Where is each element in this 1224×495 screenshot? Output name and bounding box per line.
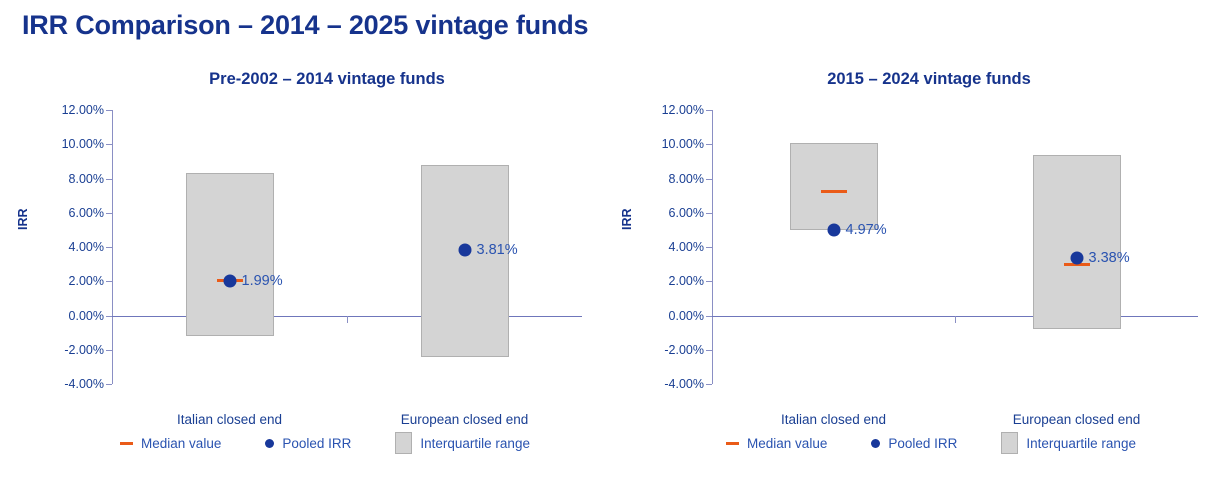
- y-tick-label-left: 8.00%: [69, 172, 104, 186]
- legend-right: Median valuePooled IRRInterquartile rang…: [616, 432, 1220, 454]
- dot-icon: [265, 439, 274, 448]
- y-tick-mark-left: [106, 350, 112, 351]
- y-tick-mark-left: [106, 281, 112, 282]
- y-axis-line-left: [112, 110, 113, 384]
- y-tick-label-left: 6.00%: [69, 206, 104, 220]
- pooled-irr-label-left: 1.99%: [242, 273, 283, 289]
- dash-icon: [726, 442, 739, 445]
- pooled-irr-dot-right: [1070, 251, 1083, 264]
- y-tick-label-right: 2.00%: [669, 274, 704, 288]
- y-tick-mark-right: [706, 281, 712, 282]
- legend-label: Pooled IRR: [888, 436, 957, 451]
- pooled-irr-label-left: 3.81%: [477, 242, 518, 258]
- box-icon: [395, 432, 412, 454]
- category-label-right: European closed end: [1013, 412, 1141, 427]
- y-axis-line-right: [712, 110, 713, 384]
- y-tick-mark-right: [706, 213, 712, 214]
- plot-area-right: 4.97%Italian closed end3.38%European clo…: [712, 110, 1198, 384]
- y-tick-label-right: 0.00%: [669, 309, 704, 323]
- median-marker-right: [821, 190, 847, 193]
- chart-title-left: Pre-2002 – 2014 vintage funds: [8, 70, 612, 89]
- y-tick-label-right: 8.00%: [669, 172, 704, 186]
- pooled-irr-dot-left: [223, 275, 236, 288]
- y-axis-labels-right: 12.00%10.00%8.00%6.00%4.00%2.00%0.00%-2.…: [616, 110, 704, 384]
- legend-item-right[interactable]: Median value: [726, 436, 827, 451]
- legend-item-left[interactable]: Median value: [120, 436, 221, 451]
- legend-item-left[interactable]: Pooled IRR: [265, 436, 351, 451]
- y-tick-mark-left: [106, 213, 112, 214]
- y-tick-label-left: -4.00%: [64, 377, 104, 391]
- legend-item-right[interactable]: Pooled IRR: [871, 436, 957, 451]
- chart-panel-left: Pre-2002 – 2014 vintage funds IRR 12.00%…: [8, 62, 612, 482]
- y-tick-mark-right: [706, 350, 712, 351]
- y-tick-mark-right: [706, 384, 712, 385]
- category-tick-right: [955, 316, 956, 323]
- box-icon: [1001, 432, 1018, 454]
- y-tick-mark-right: [706, 110, 712, 111]
- y-tick-label-left: 4.00%: [69, 240, 104, 254]
- category-label-left: European closed end: [401, 412, 529, 427]
- y-tick-label-right: -4.00%: [664, 377, 704, 391]
- y-tick-mark-left: [106, 144, 112, 145]
- legend-item-left[interactable]: Interquartile range: [395, 432, 530, 454]
- y-tick-label-left: 0.00%: [69, 309, 104, 323]
- chart-panel-right: 2015 – 2024 vintage funds IRR 12.00%10.0…: [616, 62, 1220, 482]
- y-tick-mark-right: [706, 247, 712, 248]
- pooled-irr-dot-left: [458, 244, 471, 257]
- dot-icon: [871, 439, 880, 448]
- dash-icon: [120, 442, 133, 445]
- legend-label: Median value: [141, 436, 221, 451]
- pooled-irr-dot-right: [827, 224, 840, 237]
- legend-left: Median valuePooled IRRInterquartile rang…: [8, 432, 612, 454]
- pooled-irr-label-right: 3.38%: [1089, 250, 1130, 266]
- legend-item-right[interactable]: Interquartile range: [1001, 432, 1136, 454]
- interquartile-box-left: [186, 173, 274, 336]
- y-tick-label-right: 12.00%: [662, 103, 704, 117]
- y-tick-label-left: 12.00%: [62, 103, 104, 117]
- y-tick-mark-left: [106, 110, 112, 111]
- y-tick-label-left: 2.00%: [69, 274, 104, 288]
- y-tick-mark-right: [706, 179, 712, 180]
- y-axis-labels-left: 12.00%10.00%8.00%6.00%4.00%2.00%0.00%-2.…: [8, 110, 104, 384]
- y-tick-label-left: -2.00%: [64, 343, 104, 357]
- y-tick-label-right: 6.00%: [669, 206, 704, 220]
- legend-label: Median value: [747, 436, 827, 451]
- page-title: IRR Comparison – 2014 – 2025 vintage fun…: [22, 10, 588, 41]
- y-tick-label-right: 4.00%: [669, 240, 704, 254]
- interquartile-box-left: [421, 165, 509, 357]
- y-tick-mark-left: [106, 384, 112, 385]
- legend-label: Interquartile range: [1026, 436, 1136, 451]
- y-tick-label-left: 10.00%: [62, 137, 104, 151]
- y-tick-label-right: -2.00%: [664, 343, 704, 357]
- y-tick-mark-right: [706, 144, 712, 145]
- plot-area-left: 1.99%Italian closed end3.81%European clo…: [112, 110, 582, 384]
- interquartile-box-right: [1033, 155, 1121, 330]
- category-label-right: Italian closed end: [781, 412, 886, 427]
- category-tick-left: [347, 316, 348, 323]
- legend-label: Pooled IRR: [282, 436, 351, 451]
- y-tick-mark-left: [106, 247, 112, 248]
- category-label-left: Italian closed end: [177, 412, 282, 427]
- y-tick-mark-left: [106, 179, 112, 180]
- chart-title-right: 2015 – 2024 vintage funds: [616, 70, 1220, 89]
- interquartile-box-right: [790, 143, 878, 230]
- y-tick-label-right: 10.00%: [662, 137, 704, 151]
- pooled-irr-label-right: 4.97%: [846, 222, 887, 238]
- legend-label: Interquartile range: [420, 436, 530, 451]
